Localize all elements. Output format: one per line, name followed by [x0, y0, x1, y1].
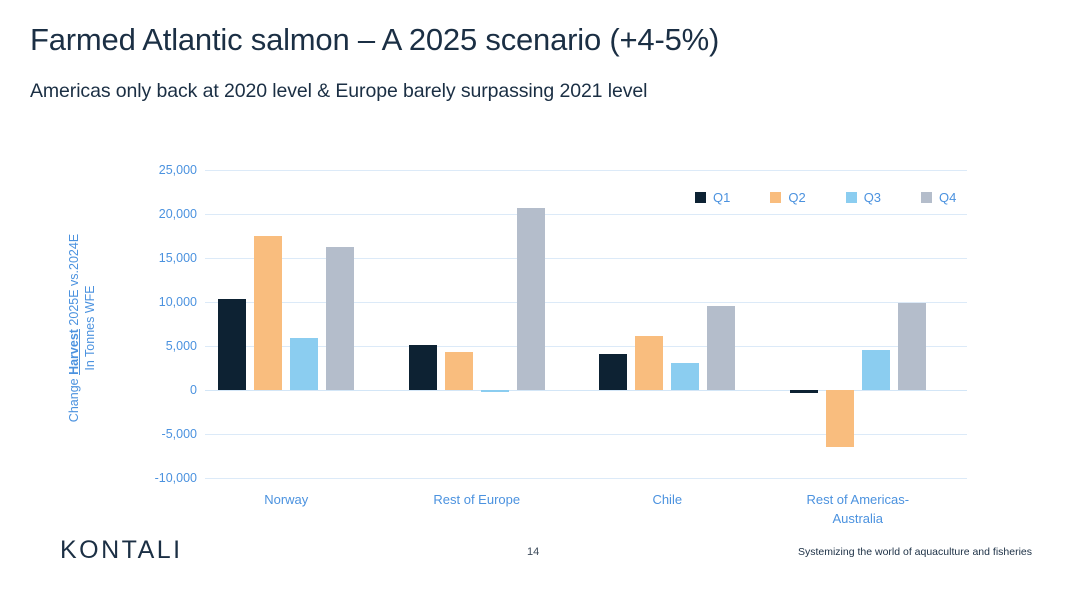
legend-swatch-icon [770, 192, 781, 203]
x-axis-label-line: Norway [264, 492, 308, 507]
footer-tagline: Systemizing the world of aquaculture and… [798, 546, 1032, 558]
bar-rest-of-americas-australia-q3 [862, 350, 890, 390]
y-axis-tick: -10,000 [135, 472, 197, 484]
legend-label: Q1 [713, 190, 730, 205]
y-axis-tick: 20,000 [135, 208, 197, 220]
legend-swatch-icon [846, 192, 857, 203]
bar-chile-q4 [707, 306, 735, 390]
y-axis-title-emphasis: Harvest [67, 329, 81, 375]
y-axis-title-line1: Change Harvest 2025E vs.2024E [67, 234, 81, 422]
bar-chile-q3 [671, 363, 699, 390]
gridline [205, 478, 967, 479]
x-axis-label-line: Rest of Europe [433, 492, 520, 507]
bar-chile-q1 [599, 354, 627, 390]
gridline [205, 214, 967, 215]
legend-swatch-icon [695, 192, 706, 203]
bar-rest-of-americas-australia-q1 [790, 390, 818, 393]
legend-label: Q2 [788, 190, 805, 205]
bar-rest-of-europe-q4 [517, 208, 545, 390]
bar-norway-q3 [290, 338, 318, 390]
y-axis-tick: 5,000 [135, 340, 197, 352]
gridline [205, 170, 967, 171]
y-axis-tick: 10,000 [135, 296, 197, 308]
legend-label: Q3 [864, 190, 881, 205]
y-axis-title-line2: In Tonnes WFE [83, 285, 97, 370]
y-axis-title-suffix: 2025E vs.2024E [67, 234, 81, 329]
bar-chile-q2 [635, 336, 663, 390]
y-axis-tick: 0 [135, 384, 197, 396]
bar-rest-of-americas-australia-q4 [898, 303, 926, 390]
bar-norway-q4 [326, 247, 354, 390]
slide-footer: KONTALI 14 Systemizing the world of aqua… [0, 530, 1080, 596]
page-title: Farmed Atlantic salmon – A 2025 scenario… [30, 22, 719, 58]
bar-norway-q2 [254, 236, 282, 390]
bar-rest-of-europe-q3 [481, 390, 509, 392]
legend-item-q2[interactable]: Q2 [770, 190, 805, 205]
chart-legend: Q1Q2Q3Q4 [695, 190, 956, 205]
legend-item-q1[interactable]: Q1 [695, 190, 730, 205]
x-axis-label-line: Rest of Americas- [806, 492, 909, 507]
y-axis-title: Change Harvest 2025E vs.2024E In Tonnes … [66, 178, 106, 478]
x-axis-category-label: Chile [582, 490, 752, 509]
x-axis-category-label: Rest of Europe [392, 490, 562, 509]
page-number: 14 [527, 546, 539, 558]
gridline [205, 346, 967, 347]
bar-norway-q1 [218, 299, 246, 390]
legend-item-q4[interactable]: Q4 [921, 190, 956, 205]
kontali-logo: KONTALI [60, 536, 183, 565]
bar-rest-of-europe-q2 [445, 352, 473, 390]
legend-item-q3[interactable]: Q3 [846, 190, 881, 205]
bar-rest-of-americas-australia-q2 [826, 390, 854, 447]
legend-swatch-icon [921, 192, 932, 203]
page-subtitle: Americas only back at 2020 level & Europ… [30, 80, 647, 103]
legend-label: Q4 [939, 190, 956, 205]
y-axis-tick: -5,000 [135, 428, 197, 440]
gridline [205, 302, 967, 303]
x-axis-label-line: Australia [832, 511, 883, 526]
y-axis-tick: 15,000 [135, 252, 197, 264]
y-axis-title-prefix: Change [67, 375, 81, 422]
y-axis-tick: 25,000 [135, 164, 197, 176]
bar-chart: Change Harvest 2025E vs.2024E In Tonnes … [0, 140, 1080, 530]
x-axis-label-line: Chile [652, 492, 682, 507]
plot-area [205, 170, 967, 478]
x-axis-category-label: Rest of Americas-Australia [773, 490, 943, 528]
x-axis-category-label: Norway [201, 490, 371, 509]
bar-rest-of-europe-q1 [409, 345, 437, 390]
gridline [205, 258, 967, 259]
